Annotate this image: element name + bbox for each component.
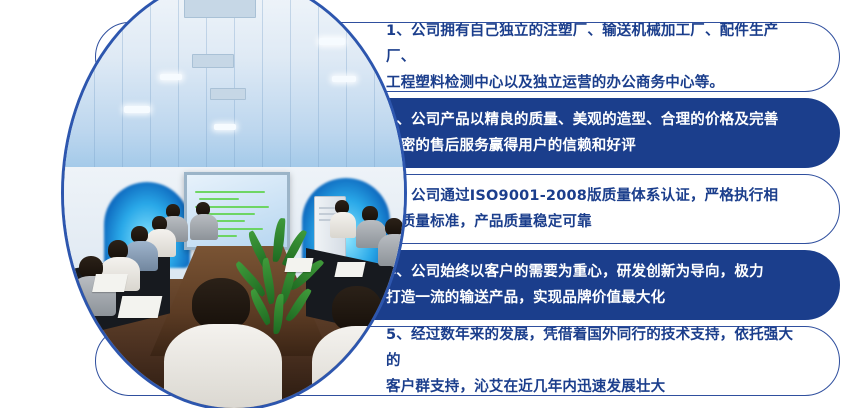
ceiling-light — [160, 74, 182, 80]
ceiling-light — [214, 124, 236, 130]
ceiling-vent — [192, 54, 234, 68]
ceiling-vent — [184, 0, 256, 18]
document — [285, 258, 314, 272]
ceiling-light — [319, 38, 345, 45]
company-advantages-banner: 1、公司拥有自己独立的注塑厂、输送机械加工厂、配件生产厂、 工程塑料检测中心以及… — [0, 0, 865, 408]
company-meeting-photo — [64, 0, 404, 408]
ceiling-light — [332, 76, 356, 82]
ceiling-vent — [210, 88, 246, 100]
document — [334, 262, 365, 277]
ceiling-light — [124, 106, 150, 113]
potted-plant — [246, 214, 318, 334]
photo-scene — [64, 0, 404, 408]
document — [92, 274, 128, 292]
document — [118, 296, 163, 318]
